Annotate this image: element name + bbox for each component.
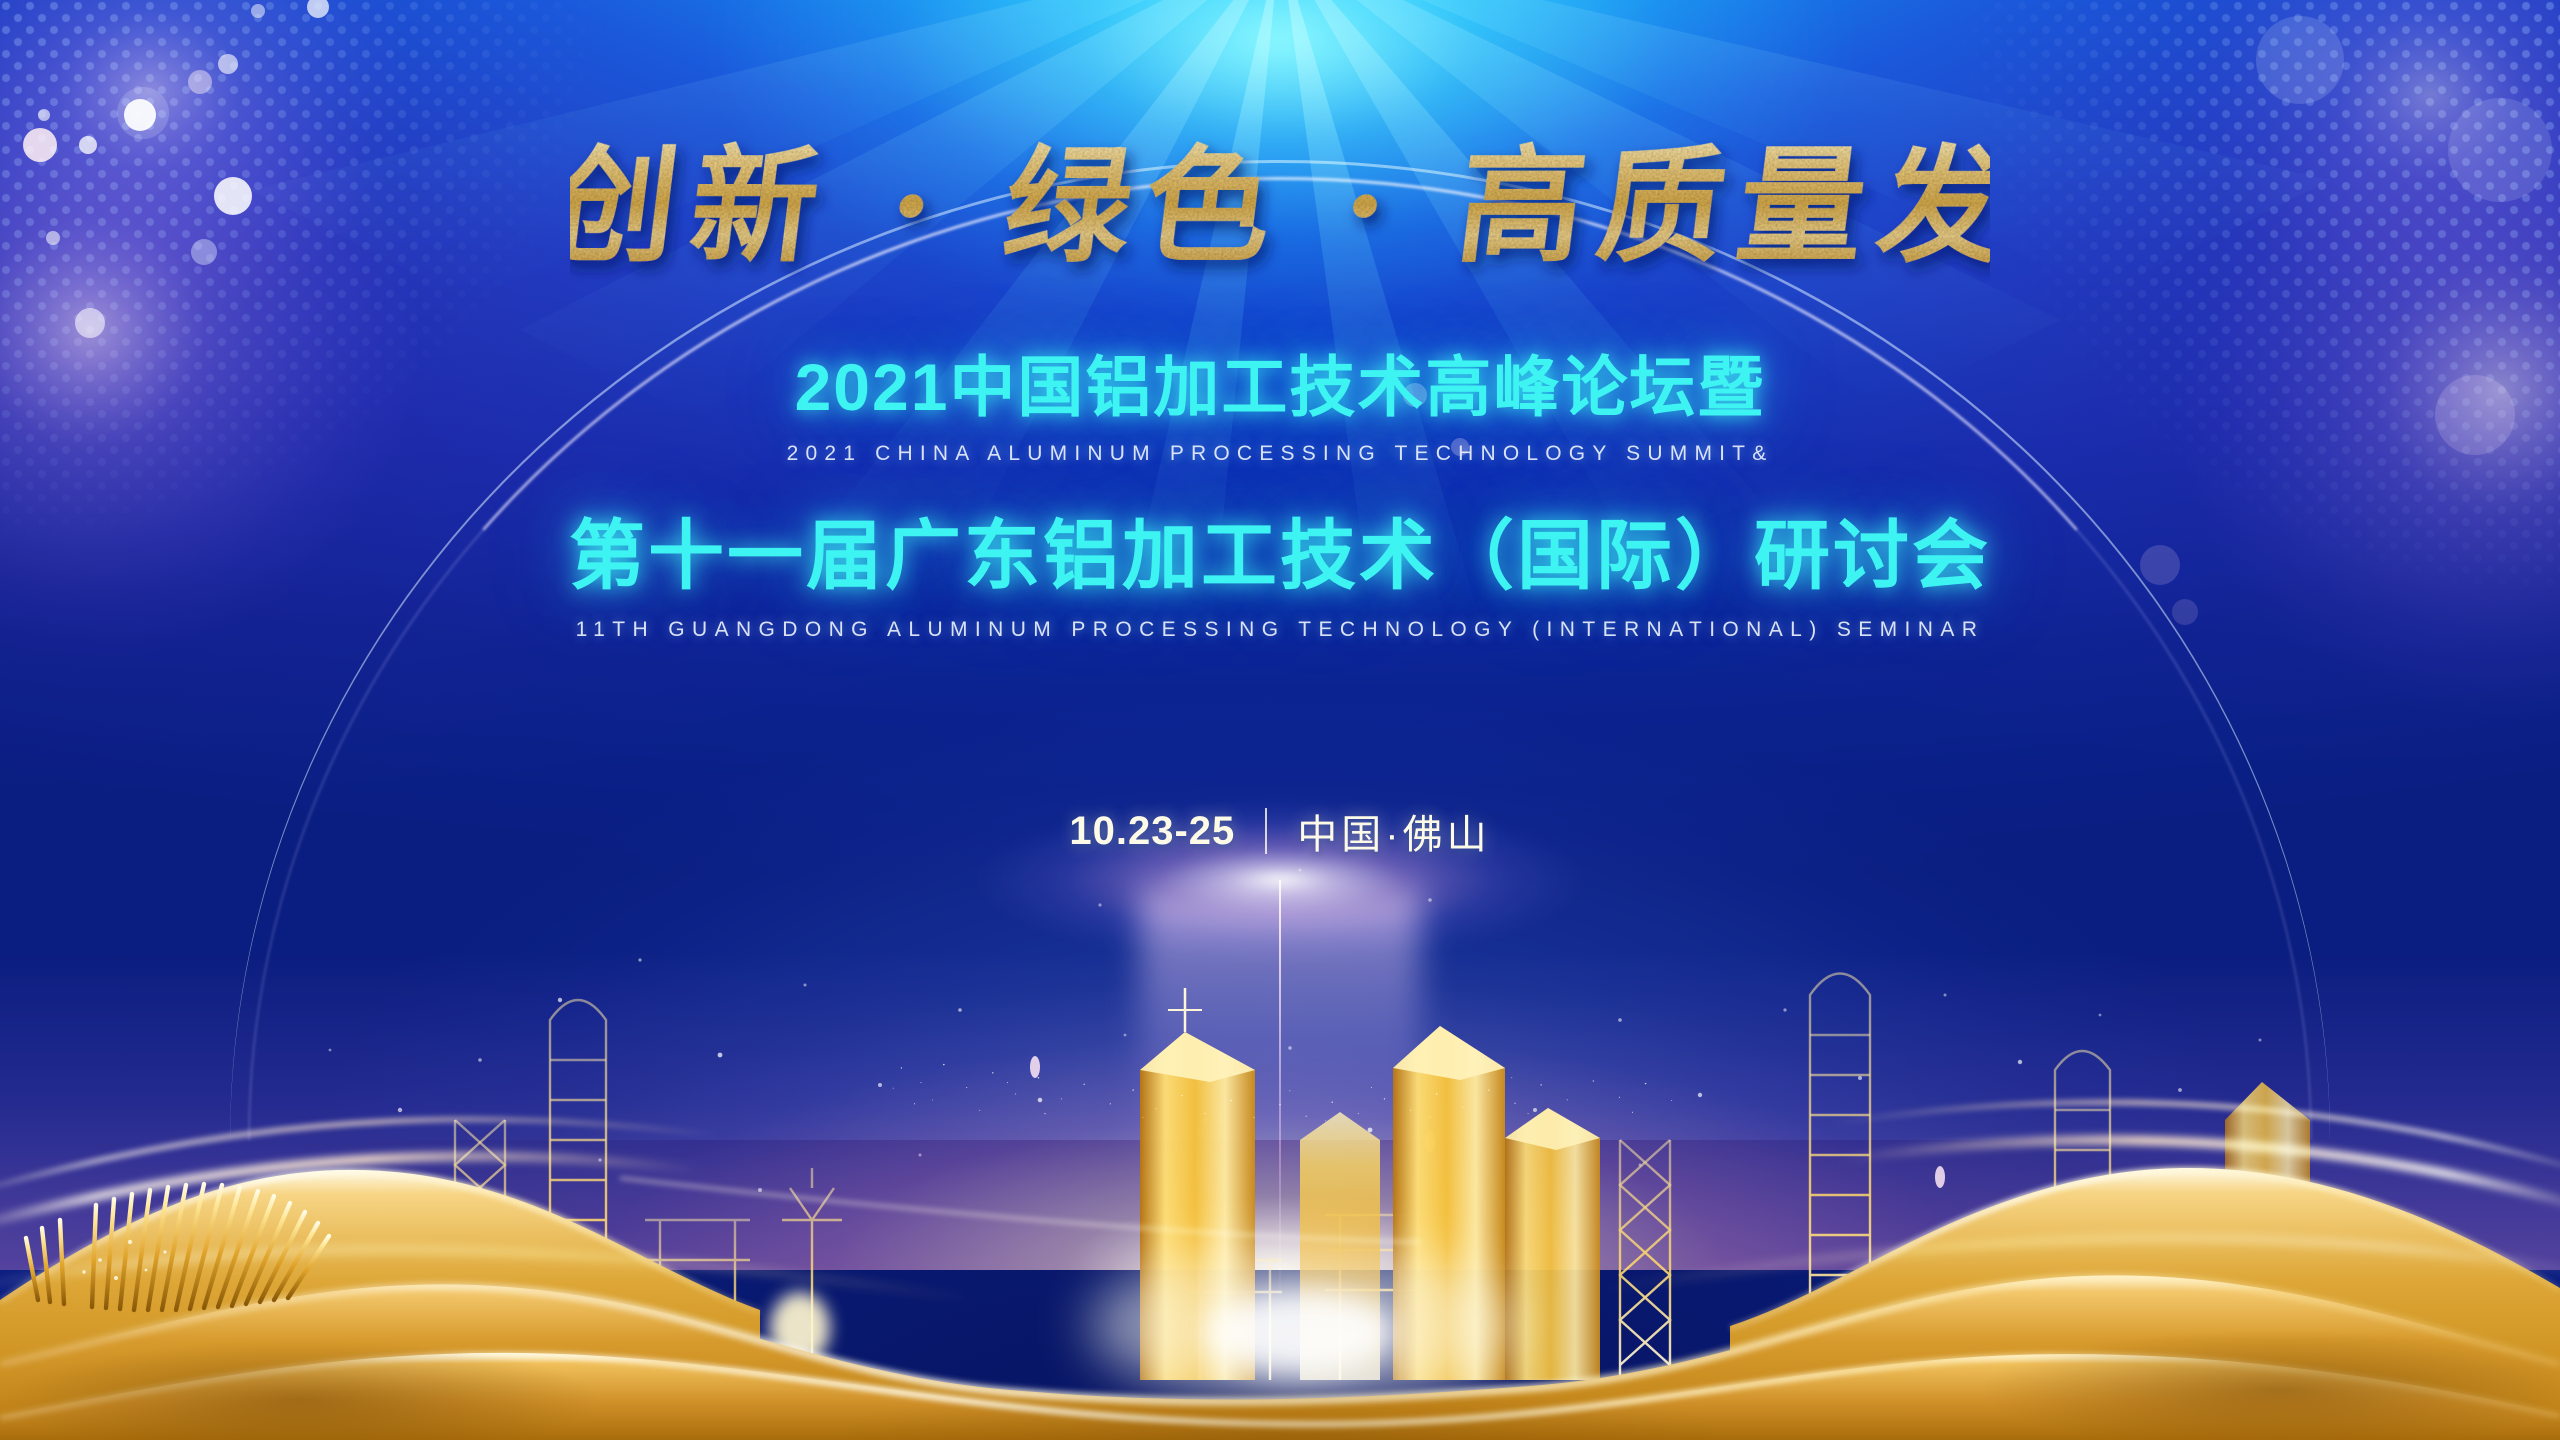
title-chinese-line1: 2021中国铝加工技术高峰论坛暨 [795, 334, 1766, 430]
meta-divider-icon [1265, 808, 1267, 854]
slogan-calligraphy-glyphs: 创新 · 绿色 · 高质量发展 [570, 118, 1990, 308]
title-english-line2: 11TH GUANGDONG ALUMINUM PROCESSING TECHN… [576, 618, 1985, 642]
event-date: 10.23-25 [1069, 809, 1235, 854]
event-meta: 10.23-25 中国·佛山 [1069, 802, 1490, 860]
event-location: 中国·佛山 [1297, 802, 1490, 860]
slogan-text: 创新 · 绿色 · 高质量发展 [570, 131, 1990, 279]
title-chinese-line2: 第十一届广东铝加工技术（国际）研讨会 [569, 494, 1991, 604]
conference-poster: 创新 · 绿色 · 高质量发展 2021中国铝加工技术高峰论坛暨 2021 CH… [0, 0, 2560, 1440]
title-english-line1: 2021 CHINA ALUMINUM PROCESSING TECHNOLOG… [787, 442, 1774, 466]
poster-content: 创新 · 绿色 · 高质量发展 2021中国铝加工技术高峰论坛暨 2021 CH… [0, 0, 2560, 1440]
slogan-calligraphy: 创新 · 绿色 · 高质量发展 [570, 118, 1990, 308]
